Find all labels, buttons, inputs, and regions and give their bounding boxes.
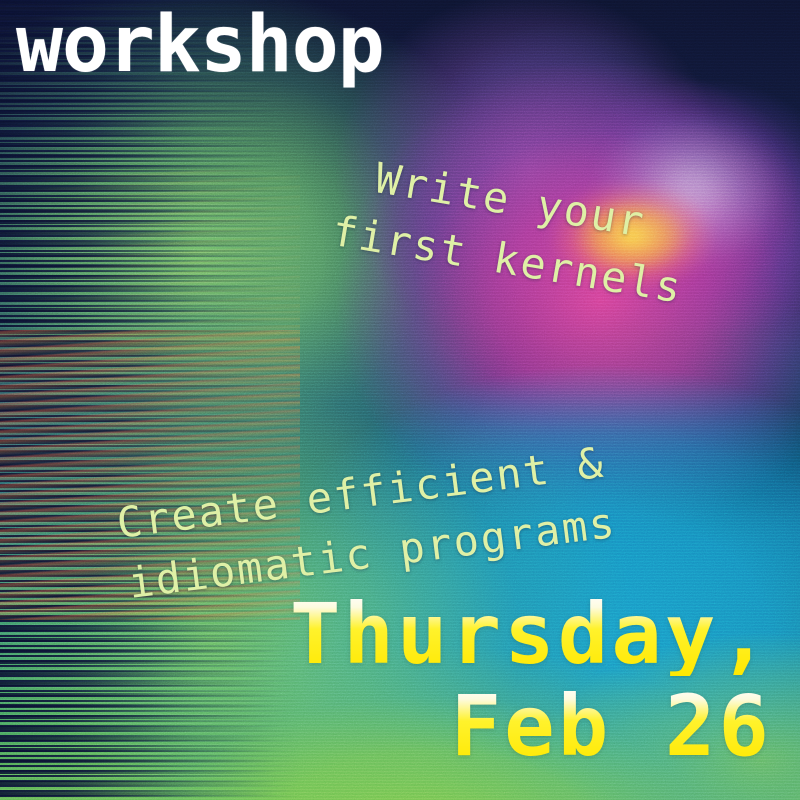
event-date-block: Thursday, Feb 26 [290, 592, 772, 768]
subhead-block: Create efficient & idiomatic programs [108, 437, 619, 609]
glitch-gold-hatch [150, 250, 300, 490]
glitch-gold-streaks [0, 170, 300, 350]
glitch-scanline-dark [0, 0, 300, 800]
glitch-scanline-dark-wide [0, 0, 300, 800]
event-date-line-2: Feb 26 [290, 684, 772, 768]
event-date-line-1: Thursday, [290, 592, 772, 676]
glitch-datamosh-band [0, 0, 300, 800]
headline-block: Write your first kernels [354, 152, 696, 313]
poster-canvas: workshop Write your first kernels Create… [0, 0, 800, 800]
poster-title: workshop [16, 6, 384, 84]
